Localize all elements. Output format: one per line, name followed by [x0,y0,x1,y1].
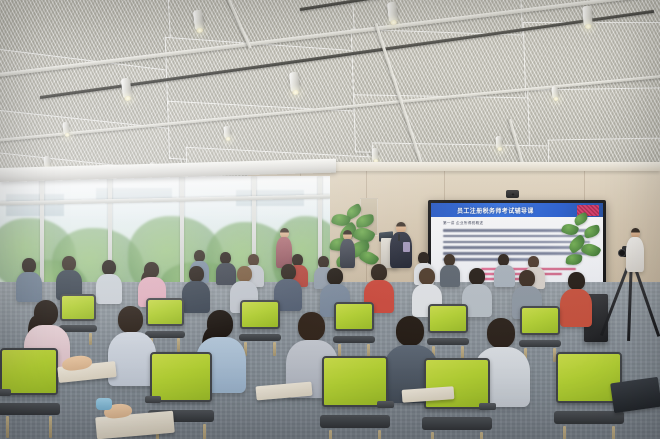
track-light-icon [496,136,503,149]
audience-member [16,258,42,300]
laptop-on-desk [610,377,660,413]
training-chair [322,356,388,436]
camera-operator [626,228,644,272]
wrist-sleeve [96,398,112,410]
training-chair [334,302,374,348]
slide-banner-title: 员工注册税务师考试辅导课 [431,206,534,215]
audience-member [440,254,460,284]
track-light-icon [223,126,230,139]
audience-member [56,256,82,298]
potted-plant [562,214,602,276]
microphone-icon [398,234,400,241]
staff-member [340,230,355,268]
conference-camera-icon [506,190,519,198]
audience-member [182,266,210,312]
seminar-room-photo: 员工注册税务师考试辅导课 第一讲 企业所得税概述 [0,0,660,439]
slide-subhead: 第一讲 企业所得税概述 [443,221,483,226]
training-chair [0,348,58,422]
track-light-icon [372,148,379,161]
audience-member [96,260,122,302]
track-light-icon [582,6,592,28]
track-light-icon [552,86,559,99]
training-chair [240,300,280,346]
presenter [390,222,412,268]
track-light-icon [62,122,69,136]
audience-member [560,272,592,326]
presenter-papers [403,242,410,252]
